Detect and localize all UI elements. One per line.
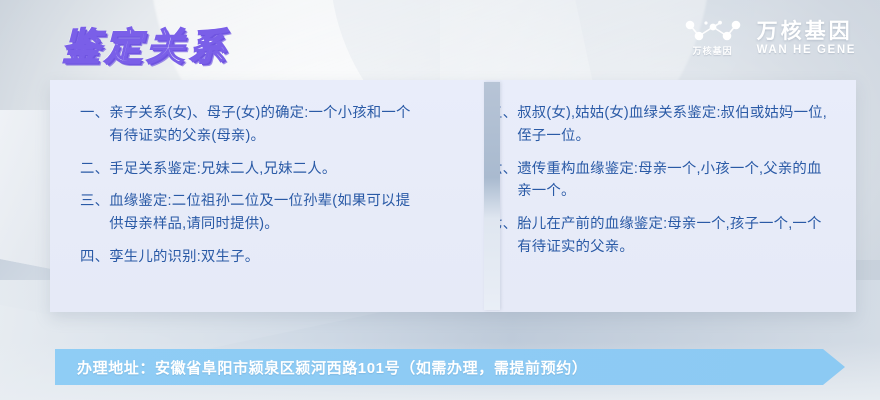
list-item-text: 手足关系鉴定:兄妹二人,兄妹二人。 (109, 158, 422, 181)
brand-mark: 万核基因 (684, 20, 742, 56)
list-item-text: 孪生儿的识别:双生子。 (109, 246, 422, 269)
header: 鉴定关系 (0, 0, 880, 82)
list-item-text: 血缘鉴定:二位祖孙二位及一位孙辈(如果可以提供母亲样品,请同时提供)。 (109, 190, 422, 236)
list-item-text: 亲子关系(女)、母子(女)的确定:一个小孩和一个有待证实的父亲(母亲)。 (109, 102, 422, 148)
list-column-right: 五、 叔叔(女),姑姑(女)血绿关系鉴定:叔伯或姑妈一位,侄子一位。 六、 遗传… (450, 102, 856, 298)
brand-wordmark: 万核基因 WAN HE GENE (757, 20, 856, 57)
list-item: 一、 亲子关系(女)、母子(女)的确定:一个小孩和一个有待证实的父亲(母亲)。 (80, 102, 422, 148)
list-item-text: 胎儿在产前的血缘鉴定:母亲一个,孩子一个,一个有待证实的父亲。 (517, 213, 830, 259)
list-item-number: 一、 (80, 102, 109, 148)
brand-name-en: WAN HE GENE (757, 45, 856, 57)
address-banner: 办理地址：安徽省阜阳市颍泉区颍河西路101号（如需办理，需提前预约） (55, 349, 845, 385)
list-item-text: 叔叔(女),姑姑(女)血绿关系鉴定:叔伯或姑妈一位,侄子一位。 (517, 102, 830, 148)
list-item: 七、 胎儿在产前的血缘鉴定:母亲一个,孩子一个,一个有待证实的父亲。 (488, 213, 830, 259)
list-item-number: 二、 (80, 158, 109, 181)
list-item: 六、 遗传重构血缘鉴定:母亲一个,小孩一个,父亲的血亲一个。 (488, 158, 830, 204)
address-text: 办理地址：安徽省阜阳市颍泉区颍河西路101号（如需办理，需提前预约） (77, 357, 587, 378)
poster-root: 鉴定关系 (0, 0, 880, 400)
molecule-network-icon (684, 20, 742, 44)
list-item-number: 三、 (80, 190, 109, 236)
list-item-number: 四、 (80, 246, 109, 269)
list-item: 二、 手足关系鉴定:兄妹二人,兄妹二人。 (80, 158, 422, 181)
brand-logo: 万核基因 万核基因 WAN HE GENE (684, 20, 856, 57)
content-panel: 一、 亲子关系(女)、母子(女)的确定:一个小孩和一个有待证实的父亲(母亲)。 … (50, 80, 856, 312)
list-item-text: 遗传重构血缘鉴定:母亲一个,小孩一个,父亲的血亲一个。 (517, 158, 830, 204)
brand-mark-label: 万核基因 (693, 47, 733, 56)
brand-name-cn: 万核基因 (757, 21, 856, 42)
list-item: 五、 叔叔(女),姑姑(女)血绿关系鉴定:叔伯或姑妈一位,侄子一位。 (488, 102, 830, 148)
column-divider (484, 82, 500, 310)
list-item: 三、 血缘鉴定:二位祖孙二位及一位孙辈(如果可以提供母亲样品,请同时提供)。 (80, 190, 422, 236)
page-title: 鉴定关系 (62, 16, 230, 71)
list-item: 四、 孪生儿的识别:双生子。 (80, 246, 422, 269)
list-column-left: 一、 亲子关系(女)、母子(女)的确定:一个小孩和一个有待证实的父亲(母亲)。 … (50, 102, 450, 298)
